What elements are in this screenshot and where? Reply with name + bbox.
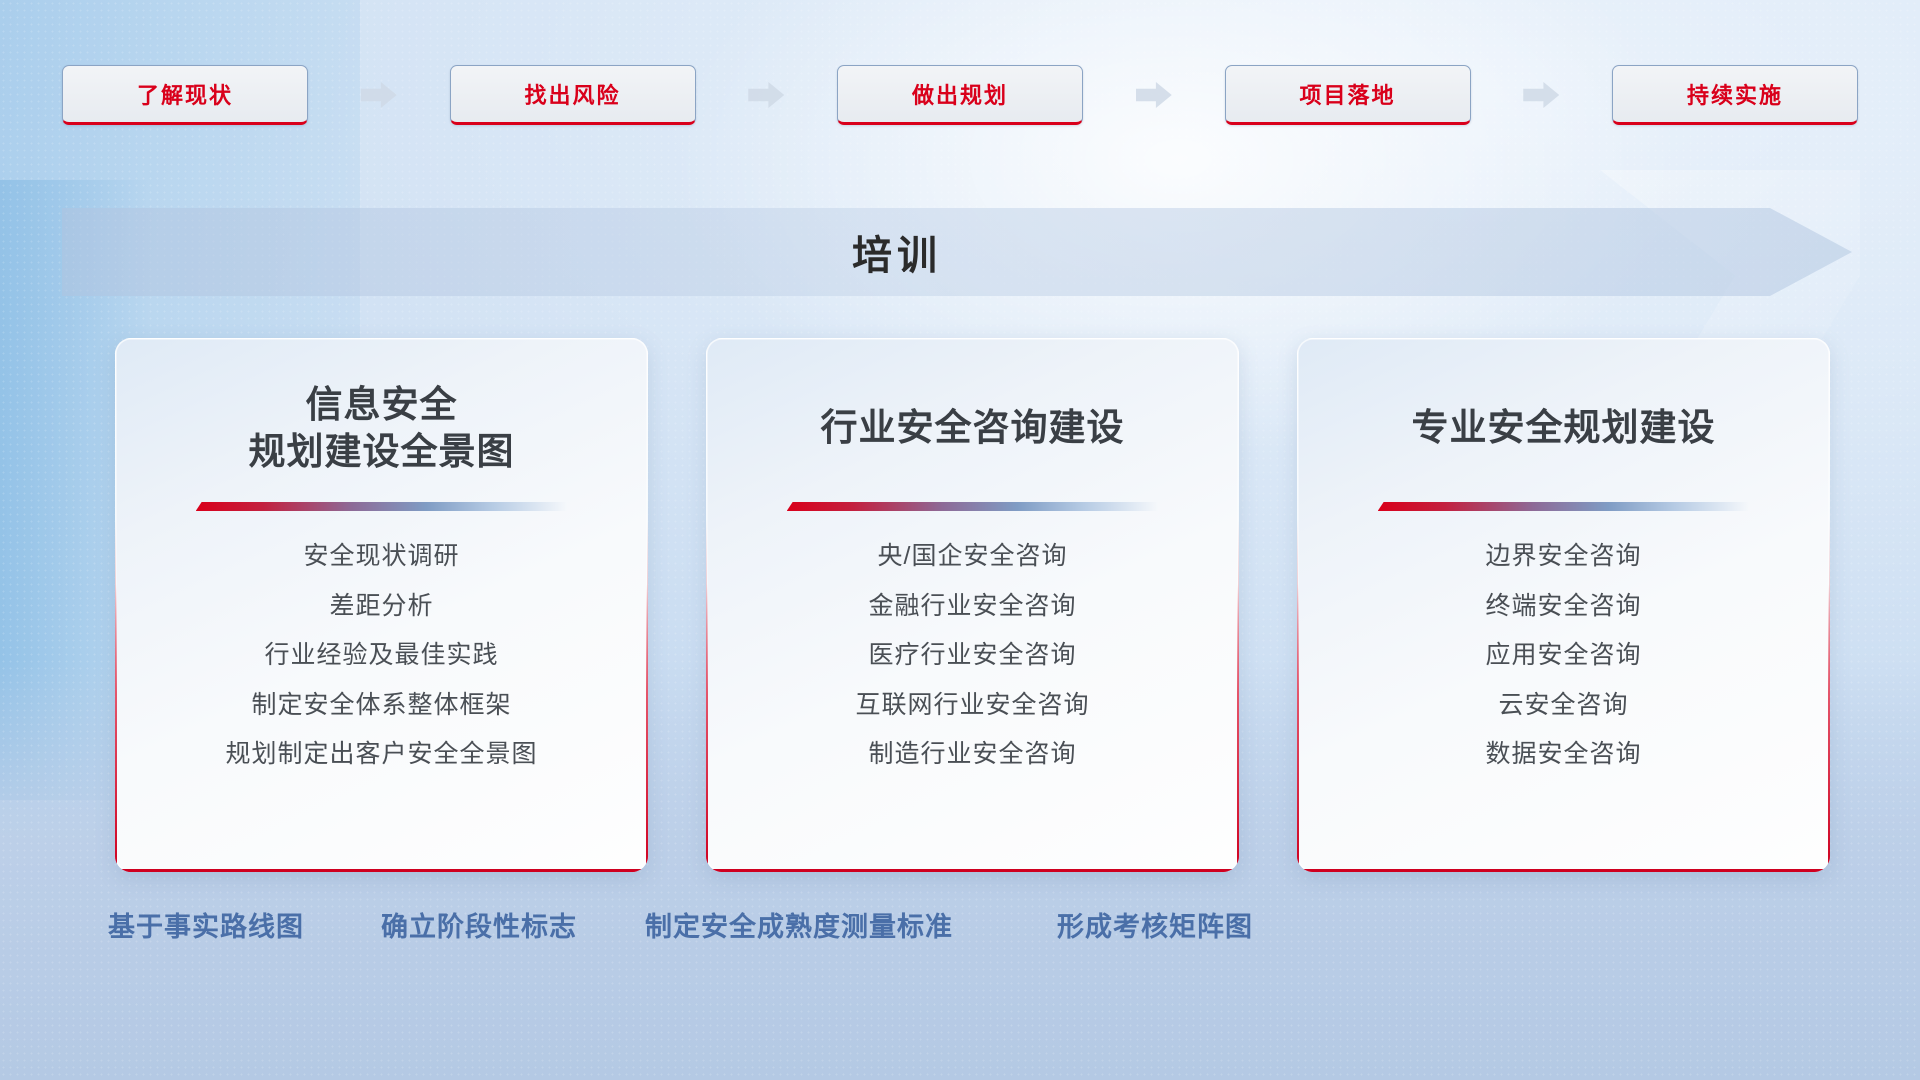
process-step-4[interactable]: 项目落地	[1225, 65, 1471, 125]
list-item: 制造行业安全咨询	[868, 733, 1076, 776]
process-step-2[interactable]: 找出风险	[450, 65, 696, 125]
process-step-4-label: 项目落地	[1299, 78, 1395, 110]
card-1-list: 安全现状调研 差距分析 行业经验及最佳实践 制定安全体系整体框架 规划制定出客户…	[137, 535, 626, 776]
process-step-3-label: 做出规划	[912, 78, 1008, 110]
list-item: 央/国企安全咨询	[878, 535, 1068, 578]
card-1-title-line-2: 规划建设全景图	[249, 431, 515, 472]
card-1-title-line-1: 信息安全	[306, 384, 458, 425]
training-banner: 培训	[62, 208, 1852, 296]
process-step-2-label: 找出风险	[524, 78, 620, 110]
card-3-title: 专业安全规划建设	[1412, 372, 1716, 484]
list-item: 安全现状调研	[303, 535, 459, 578]
process-arrow-1	[308, 65, 450, 125]
process-step-row: 了解现状 找出风险 做出规划 项目落地 持续实施	[62, 64, 1858, 126]
card-2-list: 央/国企安全咨询 金融行业安全咨询 医疗行业安全咨询 互联网行业安全咨询 制造行…	[728, 535, 1217, 776]
card-3-divider	[1378, 502, 1750, 511]
card-2-title: 行业安全咨询建设	[821, 372, 1125, 484]
banner-title: 培训	[62, 208, 1852, 296]
list-item: 数据安全咨询	[1485, 733, 1641, 776]
list-item: 医疗行业安全咨询	[868, 634, 1076, 677]
list-item: 行业经验及最佳实践	[264, 634, 498, 677]
process-step-5[interactable]: 持续实施	[1612, 65, 1858, 125]
arrow-right-icon	[361, 82, 397, 108]
process-step-5-label: 持续实施	[1687, 78, 1783, 110]
process-step-1-label: 了解现状	[137, 78, 233, 110]
arrow-right-icon	[1523, 82, 1559, 108]
list-item: 差距分析	[329, 585, 433, 628]
arrow-right-icon	[1136, 82, 1172, 108]
list-item: 制定安全体系整体框架	[251, 684, 511, 727]
card-1-divider	[196, 502, 568, 511]
list-item: 金融行业安全咨询	[868, 585, 1076, 628]
card-2[interactable]: 行业安全咨询建设 央/国企安全咨询 金融行业安全咨询 医疗行业安全咨询 互联网行…	[706, 338, 1239, 872]
process-arrow-3	[1083, 65, 1225, 125]
card-3-list: 边界安全咨询 终端安全咨询 应用安全咨询 云安全咨询 数据安全咨询	[1319, 535, 1808, 776]
footer-label-row: 基于事实路线图 确立阶段性标志 制定安全成熟度测量标准 形成考核矩阵图	[0, 905, 1920, 965]
footer-label-1: 基于事实路线图	[108, 905, 304, 944]
list-item: 互联网行业安全咨询	[855, 684, 1089, 727]
list-item: 规划制定出客户安全全景图	[225, 733, 537, 776]
list-item: 终端安全咨询	[1485, 585, 1641, 628]
process-arrow-4	[1471, 65, 1613, 125]
arrow-right-icon	[748, 82, 784, 108]
process-step-3[interactable]: 做出规划	[837, 65, 1083, 125]
card-1[interactable]: 信息安全 规划建设全景图 安全现状调研 差距分析 行业经验及最佳实践 制定安全体…	[115, 338, 648, 872]
list-item: 应用安全咨询	[1485, 634, 1641, 677]
list-item: 边界安全咨询	[1485, 535, 1641, 578]
card-2-divider	[787, 502, 1159, 511]
card-row: 信息安全 规划建设全景图 安全现状调研 差距分析 行业经验及最佳实践 制定安全体…	[115, 338, 1830, 872]
process-step-1[interactable]: 了解现状	[62, 65, 308, 125]
footer-label-2: 确立阶段性标志	[381, 905, 577, 944]
list-item: 云安全咨询	[1498, 684, 1628, 727]
footer-label-4: 形成考核矩阵图	[1057, 905, 1253, 944]
footer-label-3: 制定安全成熟度测量标准	[645, 905, 953, 944]
process-arrow-2	[696, 65, 838, 125]
card-3[interactable]: 专业安全规划建设 边界安全咨询 终端安全咨询 应用安全咨询 云安全咨询 数据安全…	[1297, 338, 1830, 872]
card-1-title: 信息安全 规划建设全景图	[249, 372, 515, 484]
